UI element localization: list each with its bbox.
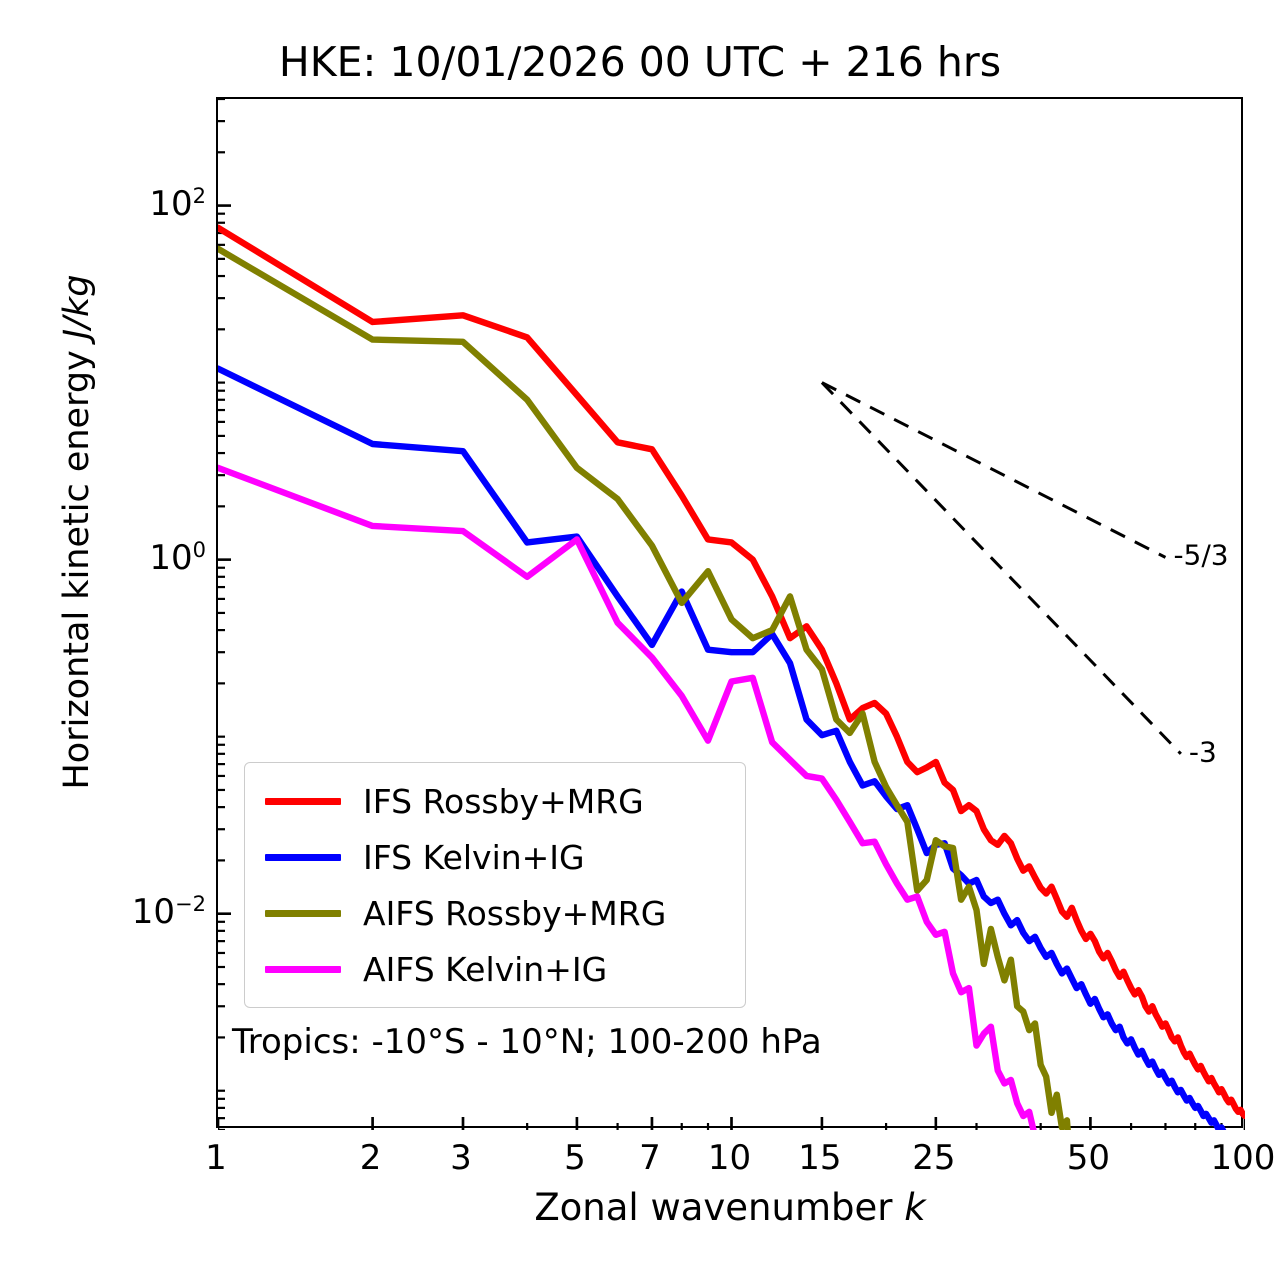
chart-annotation: Tropics: -10°S - 10°N; 100-200 hPa <box>232 1022 822 1062</box>
y-tick-label: 102 <box>149 183 206 223</box>
legend-color-swatch <box>265 854 341 861</box>
x-tick-label: 2 <box>360 1138 382 1178</box>
legend-color-swatch <box>265 910 341 917</box>
x-tick-label: 1 <box>205 1138 227 1178</box>
x-axis-label-symbol: k <box>904 1186 925 1229</box>
chart-legend: IFS Rossby+MRGIFS Kelvin+IGAIFS Rossby+M… <box>244 762 746 1008</box>
x-tick-label: 100 <box>1211 1138 1276 1178</box>
x-axis-label-text: Zonal wavenumber <box>534 1186 904 1229</box>
y-tick-label: 100 <box>149 537 206 577</box>
y-tick-label: 10−2 <box>132 892 206 932</box>
chart-title: HKE: 10/01/2026 00 UTC + 216 hrs <box>0 38 1280 86</box>
legend-item-label: AIFS Kelvin+IG <box>363 953 607 986</box>
x-tick-label: 7 <box>639 1138 661 1178</box>
x-tick-label: 3 <box>450 1138 472 1178</box>
x-tick-label: 50 <box>1067 1138 1110 1178</box>
legend-color-swatch <box>265 966 341 973</box>
legend-item-label: IFS Kelvin+IG <box>363 841 585 874</box>
reference-slope-line-three <box>822 383 1181 754</box>
legend-item[interactable]: IFS Rossby+MRG <box>245 773 745 829</box>
slope-label-three: -3 <box>1189 735 1217 768</box>
legend-item-label: IFS Rossby+MRG <box>363 785 644 818</box>
y-axis-ticks: 10210010−2 <box>60 97 206 1128</box>
slope-label-five-thirds: -5/3 <box>1173 539 1228 572</box>
series-line-1 <box>218 369 1245 1130</box>
x-tick-label: 15 <box>798 1138 841 1178</box>
legend-color-swatch <box>265 798 341 805</box>
x-axis-label: Zonal wavenumber k <box>216 1186 1244 1229</box>
x-tick-label: 5 <box>564 1138 586 1178</box>
legend-item[interactable]: IFS Kelvin+IG <box>245 829 745 885</box>
x-tick-label: 10 <box>708 1138 751 1178</box>
legend-item-label: AIFS Rossby+MRG <box>363 897 666 930</box>
reference-slope-line-five-thirds <box>822 383 1166 558</box>
legend-item[interactable]: AIFS Rossby+MRG <box>245 885 745 941</box>
x-tick-label: 25 <box>912 1138 955 1178</box>
legend-item[interactable]: AIFS Kelvin+IG <box>245 941 745 997</box>
x-axis-ticks: 1235710152550100 <box>216 1138 1243 1188</box>
chart-page: HKE: 10/01/2026 00 UTC + 216 hrs Horizon… <box>0 0 1280 1288</box>
